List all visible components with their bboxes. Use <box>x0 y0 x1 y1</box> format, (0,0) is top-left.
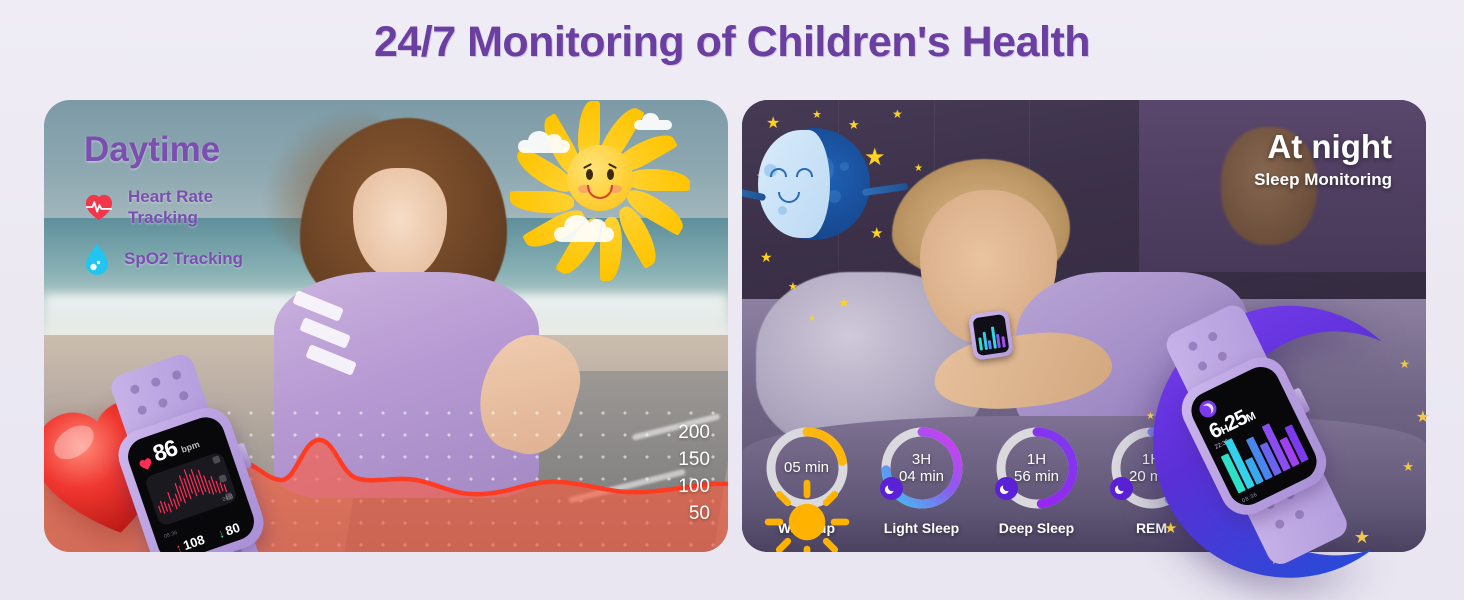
star-icon: ★ <box>870 226 883 241</box>
sleep-stage-rings: 05 min Wake up <box>760 424 1198 536</box>
star-icon: ★ <box>788 282 798 293</box>
daytime-panel: Daytime Heart Rate Tracking <box>44 100 728 552</box>
daytime-watch-product-shot: 86 bpm <box>44 352 278 552</box>
star-icon: ★ <box>1354 528 1370 546</box>
heart-icon-small <box>138 456 154 472</box>
daytime-heading: Daytime <box>84 130 243 170</box>
star-icon: ★ <box>1164 521 1177 536</box>
star-icon: ★ <box>1146 412 1155 422</box>
sleep-stage-wake-up[interactable]: 05 min Wake up <box>760 424 853 536</box>
night-watch-product-shot: ★ ★ ★ ★ ★ ★ ★ ★ 6H25M <box>1140 292 1440 592</box>
moon-icon <box>995 477 1018 500</box>
daytime-watch-screen: 86 bpm <box>123 412 259 552</box>
night-heading: At night <box>1254 128 1392 166</box>
star-icon: ★ <box>1402 460 1414 473</box>
cloud-icon <box>634 120 672 130</box>
systolic-reading: ↑ 108 <box>174 532 207 552</box>
heart-rate-scale-labels: 200 150 100 50 <box>678 420 710 528</box>
star-icon: ★ <box>808 314 816 323</box>
star-icon: ★ <box>892 108 903 120</box>
night-watch-footer: 08:36 <box>1241 492 1258 505</box>
child-wrist-smartwatch <box>968 310 1014 361</box>
watch-corner-label: 08:36 <box>163 530 178 540</box>
cloud-icon <box>554 227 614 242</box>
star-icon: ★ <box>838 296 850 309</box>
sleep-stage-light-sleep[interactable]: 3H 04 min Light Sleep <box>875 424 968 536</box>
sleeping-moon-icon <box>758 128 870 240</box>
smiling-sun-icon <box>534 112 666 248</box>
page-title: 24/7 Monitoring of Children's Health <box>0 18 1464 67</box>
star-icon: ★ <box>760 250 773 264</box>
sun-icon <box>763 478 789 504</box>
feature-heart-rate-label: Heart Rate Tracking <box>128 186 213 229</box>
sleep-stage-label: Light Sleep <box>875 520 968 536</box>
sleep-stage-label: Deep Sleep <box>990 520 1083 536</box>
diastolic-reading: ↓ 80 <box>216 520 242 541</box>
moon-icon <box>1110 477 1133 500</box>
feature-spo2-label: SpO2 Tracking <box>124 248 243 269</box>
water-drop-icon <box>84 243 110 275</box>
star-icon: ★ <box>812 110 822 121</box>
star-icon: ★ <box>1416 410 1430 426</box>
feature-heart-rate: Heart Rate Tracking <box>84 186 243 229</box>
star-icon: ★ <box>914 164 923 174</box>
night-subheading: Sleep Monitoring <box>1254 170 1392 190</box>
star-icon: ★ <box>1399 358 1410 370</box>
heart-pulse-icon <box>84 193 114 221</box>
bpm-unit: bpm <box>180 439 201 455</box>
cloud-icon <box>518 140 570 153</box>
sleep-stage-deep-sleep[interactable]: 1H 56 min Deep Sleep <box>990 424 1083 536</box>
bpm-value: 86 <box>150 436 180 465</box>
feature-spo2: SpO2 Tracking <box>84 243 243 275</box>
moon-icon <box>880 477 903 500</box>
